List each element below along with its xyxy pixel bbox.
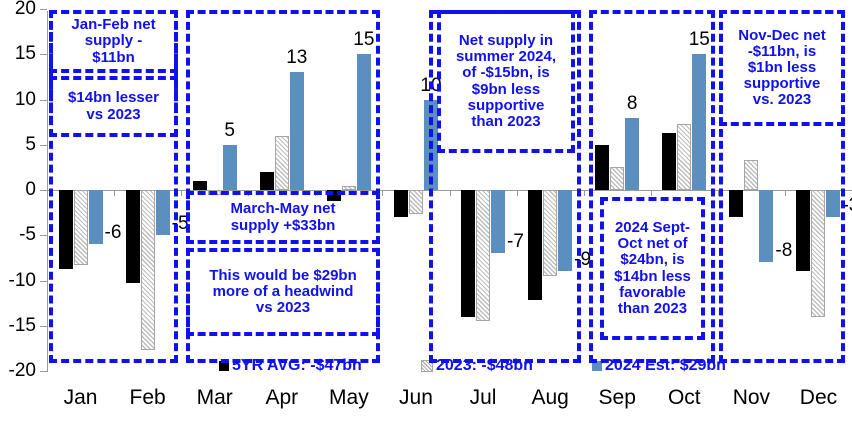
callout-mar-may-vs-2023: This would be $29bn more of a headwind v… xyxy=(186,248,380,336)
callout-line: than 2023 xyxy=(614,301,691,317)
x-axis-tick-mark xyxy=(517,190,518,196)
data-label-jul: -7 xyxy=(507,231,524,253)
bar-sep-2023 xyxy=(610,167,624,190)
y-axis-tick-label: 10 xyxy=(15,89,36,111)
bar-jun-2023 xyxy=(409,190,423,214)
bar-dec-5yr-avg xyxy=(796,190,810,271)
x-axis-tick-mark xyxy=(718,190,719,196)
data-label-may: 15 xyxy=(353,29,374,51)
bar-jul-5yr-avg xyxy=(461,190,475,317)
bar-nov-2023 xyxy=(744,160,758,190)
y-axis-tick-label: -10 xyxy=(9,270,36,292)
callout-line: of -$15bn, is xyxy=(456,65,556,81)
data-label-oct: 15 xyxy=(689,29,710,51)
legend-swatch-hatched-icon xyxy=(421,360,433,372)
callout-sep-oct-net: 2024 Sept- Oct net of $24bn, is $14bn le… xyxy=(600,197,705,340)
x-axis-label-feb: Feb xyxy=(130,386,166,410)
bar-jul-2023 xyxy=(476,190,490,321)
legend-item-5yr-avg[interactable]: 5YR AVG: -$47bn xyxy=(219,357,362,375)
bar-feb-5yr-avg xyxy=(126,190,140,283)
callout-line: vs 2023 xyxy=(68,107,159,123)
callout-line: more of a headwind xyxy=(209,284,357,300)
bar-dec-2023 xyxy=(811,190,825,317)
bar-sep-5yr-avg xyxy=(595,145,609,190)
bar-chart: 20151050-5-10-15-20 -6-55131510-7-9815-8… xyxy=(0,0,852,424)
y-axis-tick-mark xyxy=(40,9,47,10)
x-axis-label-sep: Sep xyxy=(599,386,636,410)
x-axis-tick-mark xyxy=(181,190,182,196)
callout-line: $11bn xyxy=(71,50,155,66)
y-axis-tick-mark xyxy=(40,100,47,101)
callout-line: vs. 2023 xyxy=(738,92,826,108)
x-axis-tick-mark xyxy=(47,190,48,196)
callout-line: This would be $29bn xyxy=(209,268,357,284)
bar-oct-5yr-avg xyxy=(662,133,676,190)
callout-line: $14bn lesser xyxy=(68,90,159,106)
callout-nov-dec-net: Nov-Dec net -$11bn, is $1bn less support… xyxy=(719,10,845,126)
bar-jan-2023 xyxy=(74,190,88,265)
x-axis-tick-mark xyxy=(114,190,115,196)
x-axis-tick-mark xyxy=(785,190,786,196)
y-axis-tick-label: -5 xyxy=(19,224,36,246)
x-axis-tick-mark xyxy=(584,190,585,196)
data-label-mar: 5 xyxy=(224,120,235,142)
callout-line: $24bn, is xyxy=(614,252,691,268)
legend-item-2023[interactable]: 2023: -$48bn xyxy=(421,357,533,375)
callout-line: $14bn less xyxy=(614,269,691,285)
callout-line: favorable xyxy=(614,285,691,301)
callout-line: supportive xyxy=(738,76,826,92)
bar-apr-2024-est xyxy=(290,72,304,190)
legend-label-2023: 2023: -$48bn xyxy=(436,357,533,375)
x-axis-label-may: May xyxy=(329,386,369,410)
y-axis-tick-label: 20 xyxy=(15,0,36,20)
y-axis-tick-mark xyxy=(40,190,47,191)
bar-jan-5yr-avg xyxy=(59,190,73,269)
callout-line: supply +$33bn xyxy=(230,218,335,234)
bar-nov-5yr-avg xyxy=(729,190,743,217)
callout-line: supply - xyxy=(71,33,155,49)
bar-jun-2024-est xyxy=(424,100,438,191)
callout-line: $1bn less xyxy=(738,60,826,76)
callout-line: Jan-Feb net xyxy=(71,17,155,33)
callout-summer-net: Net supply in summer 2024, of -$15bn, is… xyxy=(437,10,575,153)
y-axis-tick-label: -15 xyxy=(9,315,36,337)
x-axis-label-jul: Jul xyxy=(470,386,497,410)
x-axis-label-apr: Apr xyxy=(265,386,298,410)
y-axis-tick-mark xyxy=(40,235,47,236)
bar-jul-2024-est xyxy=(491,190,505,253)
callout-mar-may-net: March-May net supply +$33bn xyxy=(186,191,380,244)
y-axis-tick-label: 15 xyxy=(15,43,36,65)
bar-feb-2024-est xyxy=(156,190,170,235)
callout-line: -$11bn, is xyxy=(738,44,826,60)
x-axis-tick-mark xyxy=(382,190,383,196)
bar-aug-2024-est xyxy=(558,190,572,271)
legend-item-2024-est[interactable]: 2024 Est: $29bn xyxy=(592,357,726,375)
x-axis-label-oct: Oct xyxy=(668,386,701,410)
legend-label-2024-est: 2024 Est: $29bn xyxy=(605,357,726,375)
x-axis-label-dec: Dec xyxy=(800,386,837,410)
bar-may-2023 xyxy=(342,186,356,190)
bar-oct-2023 xyxy=(677,124,691,190)
x-axis-label-mar: Mar xyxy=(197,386,233,410)
data-label-jan: -6 xyxy=(105,222,122,244)
callout-line: than 2023 xyxy=(456,114,556,130)
x-axis-label-nov: Nov xyxy=(733,386,770,410)
callout-line: vs 2023 xyxy=(209,300,357,316)
y-axis-tick-mark xyxy=(40,54,47,55)
data-label-apr: 13 xyxy=(286,47,307,69)
bar-aug-5yr-avg xyxy=(528,190,542,300)
callout-line: Net supply in xyxy=(456,33,556,49)
x-axis-label-jun: Jun xyxy=(399,386,433,410)
data-label-dec: -3 xyxy=(842,195,852,217)
bar-jan-2024-est xyxy=(89,190,103,244)
bar-apr-2023 xyxy=(275,136,289,190)
x-axis-label-jan: Jan xyxy=(64,386,98,410)
bar-aug-2023 xyxy=(543,190,557,276)
y-axis-tick-mark xyxy=(40,281,47,282)
bar-jun-5yr-avg xyxy=(394,190,408,217)
callout-line: 2024 Sept- xyxy=(614,220,691,236)
x-axis-tick-mark xyxy=(450,190,451,196)
callout-line: March-May net xyxy=(230,201,335,217)
y-axis-tick-label: 0 xyxy=(25,179,36,201)
data-label-sep: 8 xyxy=(627,93,638,115)
callout-line: Oct net of xyxy=(614,236,691,252)
bar-mar-5yr-avg xyxy=(193,181,207,190)
callout-line: supportive xyxy=(456,98,556,114)
bar-apr-5yr-avg xyxy=(260,172,274,190)
callout-line: summer 2024, xyxy=(456,49,556,65)
bar-may-2024-est xyxy=(357,54,371,190)
data-label-aug: -9 xyxy=(574,249,591,271)
callout-jan-feb-net: Jan-Feb net supply - $11bn xyxy=(49,10,178,73)
y-axis-tick-label: 5 xyxy=(25,134,36,156)
data-label-nov: -8 xyxy=(775,240,792,262)
x-axis-tick-mark xyxy=(651,190,652,196)
bar-sep-2024-est xyxy=(625,118,639,190)
bar-oct-2024-est xyxy=(692,54,706,190)
bar-mar-2024-est xyxy=(223,145,237,190)
y-axis-tick-mark xyxy=(40,145,47,146)
bar-dec-2024-est xyxy=(826,190,840,217)
x-axis-label-aug: Aug xyxy=(531,386,568,410)
bar-feb-2023 xyxy=(141,190,155,350)
callout-line: Nov-Dec net xyxy=(738,28,826,44)
bar-nov-2024-est xyxy=(759,190,773,262)
legend: 5YR AVG: -$47bn 2023: -$48bn 2024 Est: $… xyxy=(0,357,852,381)
callout-line: $9bn less xyxy=(456,82,556,98)
legend-swatch-blue-icon xyxy=(592,361,602,371)
y-axis-tick-mark xyxy=(40,326,47,327)
legend-label-5yr-avg: 5YR AVG: -$47bn xyxy=(232,357,362,375)
callout-jan-feb-vs-2023: $14bn lesser vs 2023 xyxy=(49,76,178,137)
legend-swatch-black-icon xyxy=(219,361,229,371)
